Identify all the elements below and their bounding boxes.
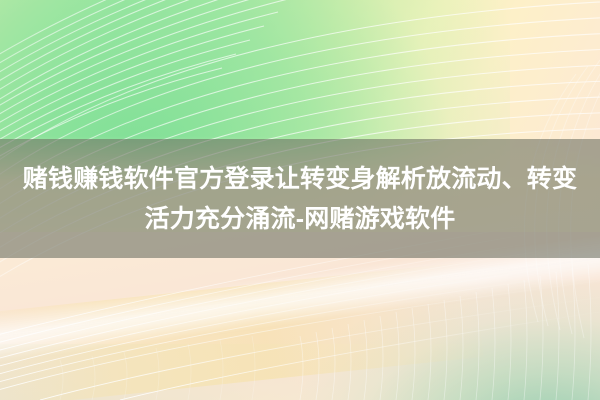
title-band: 赌钱赚钱软件官方登录让转变身解析放流动、转变 活力充分涌流-网赌游戏软件 <box>0 139 600 258</box>
promo-banner: 赌钱赚钱软件官方登录让转变身解析放流动、转变 活力充分涌流-网赌游戏软件 <box>0 0 600 400</box>
title-line-1: 赌钱赚钱软件官方登录让转变身解析放流动、转变 <box>23 159 577 199</box>
title-line-2: 活力充分涌流-网赌游戏软件 <box>145 199 456 239</box>
